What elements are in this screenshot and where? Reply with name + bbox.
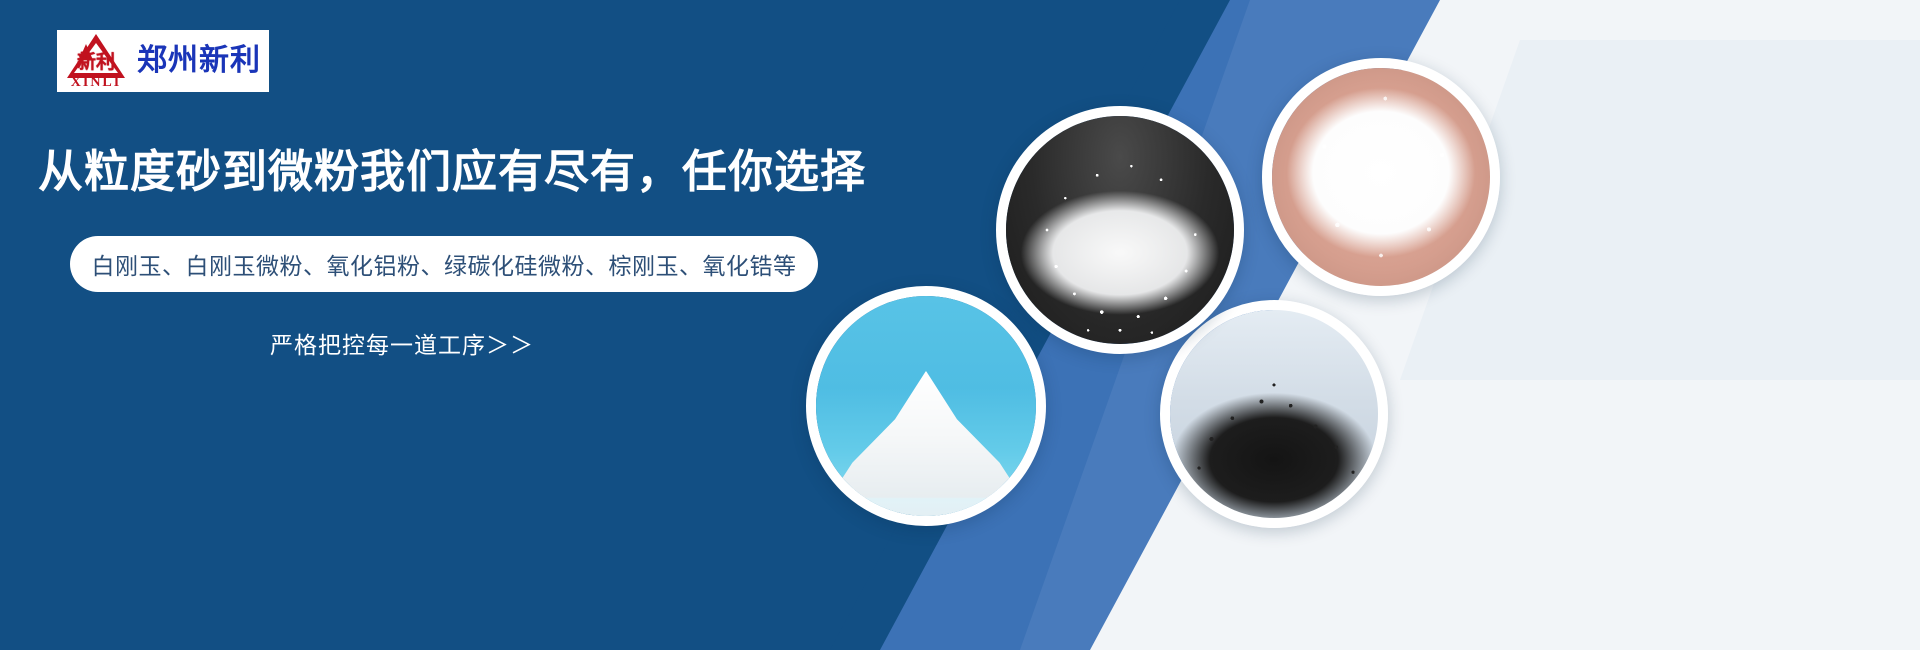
logo-mark-cn: 新利 — [61, 53, 131, 72]
product-image-white-alumina-micropowder — [1262, 58, 1500, 296]
logo-mark-en: XINLI — [57, 75, 135, 91]
powder-speckles — [1272, 68, 1490, 286]
hero-banner: 新利 XINLI 郑州新利 从粒度砂到微粉我们应有尽有，任你选择 白刚玉、白刚玉… — [0, 0, 1920, 650]
triangle-logo-icon: 新利 XINLI — [57, 31, 135, 91]
page-title: 从粒度砂到微粉我们应有尽有，任你选择 — [38, 146, 866, 198]
tagline-link[interactable]: 严格把控每一道工序＞＞ — [270, 326, 534, 360]
company-logo[interactable]: 新利 XINLI 郑州新利 — [57, 30, 269, 92]
grit-speckles — [1006, 116, 1234, 344]
product-list-pill: 白刚玉、白刚玉微粉、氧化铝粉、绿碳化硅微粉、棕刚玉、氧化锆等 — [70, 236, 818, 292]
product-image-white-fused-alumina-grit — [996, 106, 1244, 354]
company-name: 郑州新利 — [137, 46, 261, 76]
product-list-text: 白刚玉、白刚玉微粉、氧化铝粉、绿碳化硅微粉、棕刚玉、氧化锆等 — [92, 247, 797, 281]
